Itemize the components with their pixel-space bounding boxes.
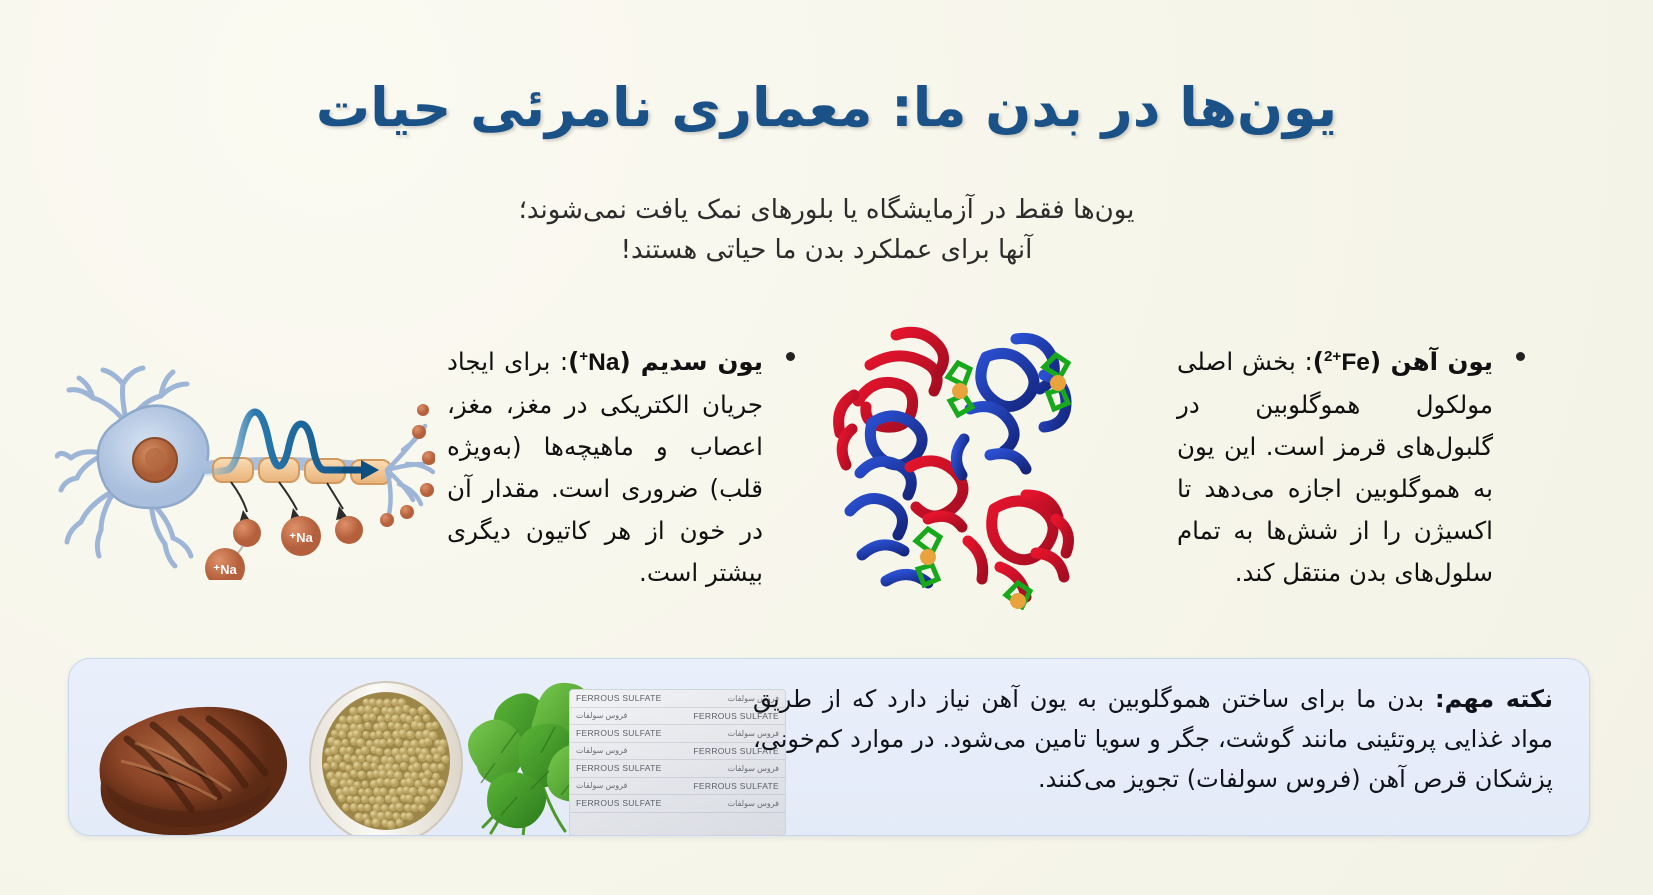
soybean bbox=[400, 762, 408, 770]
page-subtitle: یون‌ها فقط در آزمایشگاه یا بلورهای نمک ی… bbox=[0, 190, 1653, 270]
soybean bbox=[417, 706, 426, 715]
soybean bbox=[361, 780, 368, 787]
sodium-ion-small-2 bbox=[335, 516, 363, 544]
pill-label-fa: فروس سولفات bbox=[728, 799, 779, 808]
iron-bullet-point bbox=[1516, 352, 1525, 361]
soybean bbox=[353, 761, 362, 770]
soybean bbox=[356, 738, 365, 747]
soybean bbox=[349, 707, 358, 716]
soybean bbox=[375, 748, 383, 756]
soybean bbox=[353, 715, 362, 724]
soybean bbox=[411, 804, 419, 812]
soybean bbox=[376, 699, 384, 707]
soybean bbox=[437, 779, 445, 787]
soybean bbox=[433, 754, 441, 762]
soybean bbox=[379, 739, 387, 747]
soybean bbox=[402, 705, 410, 713]
soybean bbox=[369, 698, 377, 706]
soybean bbox=[323, 763, 330, 770]
soybean bbox=[396, 819, 404, 827]
soybean bbox=[425, 754, 433, 762]
soybean bbox=[350, 803, 358, 811]
soybean bbox=[394, 706, 403, 715]
sodium-ion-small bbox=[233, 519, 261, 547]
note-label: نکته مهم: bbox=[1435, 685, 1553, 713]
iron-ion-paragraph: یون آهن (Fe2+): بخش اصلی مولکول هموگلوبی… bbox=[1177, 336, 1493, 594]
soybean bbox=[395, 803, 403, 811]
soybean bbox=[346, 795, 354, 803]
soybean bbox=[387, 738, 394, 745]
soybean bbox=[384, 714, 392, 722]
soybean bbox=[418, 804, 426, 812]
soybean bbox=[405, 812, 413, 820]
soybean bbox=[389, 804, 397, 812]
note-paragraph: نکته مهم: بدن ما برای ساختن هموگلوبین به… bbox=[753, 679, 1553, 799]
neuron-diagram-image: Na⁺ Na⁺ bbox=[55, 350, 435, 580]
subtitle-line-1: یون‌ها فقط در آزمایشگاه یا بلورهای نمک ی… bbox=[0, 190, 1653, 230]
soybean bbox=[350, 770, 358, 778]
soybean bbox=[403, 740, 411, 748]
soybean bbox=[369, 713, 377, 721]
soybean bbox=[338, 794, 346, 802]
soybean bbox=[441, 755, 449, 763]
soybean bbox=[417, 722, 424, 729]
soybean bbox=[358, 755, 366, 763]
soybean bbox=[405, 778, 414, 787]
sodium-ion-label-2: Na⁺ bbox=[213, 562, 237, 577]
pill-label-en: FERROUS SULFATE bbox=[576, 728, 662, 738]
soybean bbox=[406, 730, 415, 739]
soybean bbox=[413, 762, 421, 770]
sodium-term: یون سدیم bbox=[641, 347, 763, 376]
soybean bbox=[422, 762, 431, 771]
soybean bbox=[379, 788, 387, 796]
soybean bbox=[429, 779, 436, 786]
soybean bbox=[432, 722, 439, 729]
soybean bbox=[387, 820, 396, 829]
iron-formula-charge: 2+ bbox=[1324, 348, 1341, 365]
soybean bbox=[346, 747, 353, 754]
soybean bbox=[421, 796, 429, 804]
soybean bbox=[364, 705, 373, 714]
soybean bbox=[383, 699, 391, 707]
soybean bbox=[364, 819, 371, 826]
soybean bbox=[331, 730, 339, 738]
soybean bbox=[375, 796, 384, 805]
soybean bbox=[338, 730, 346, 738]
soybean bbox=[347, 779, 355, 787]
soybean bbox=[423, 714, 431, 722]
iron-rich-foods-images: FERROUS SULFATEفروس سولفاتفروس سولفاتFER… bbox=[69, 659, 789, 835]
soybean bbox=[424, 738, 432, 746]
soybean bbox=[384, 748, 392, 756]
pill-label-fa: فروس سولفات bbox=[576, 781, 627, 790]
soybean bbox=[390, 778, 399, 787]
soybean bbox=[392, 764, 400, 772]
soybean bbox=[372, 818, 381, 827]
subtitle-line-2: آنها برای عملکرد بدن ما حیاتی هستند! bbox=[0, 230, 1653, 270]
soybean bbox=[381, 804, 389, 812]
soybean bbox=[357, 771, 366, 780]
sodium-ion-particles: Na⁺ Na⁺ bbox=[205, 516, 363, 580]
sodium-ion-label-1: Na⁺ bbox=[289, 530, 313, 545]
iron-term: یون آهن bbox=[1391, 347, 1493, 376]
important-note-box: FERROUS SULFATEفروس سولفاتفروس سولفاتFER… bbox=[68, 658, 1590, 836]
soybean bbox=[362, 762, 370, 770]
soybean bbox=[376, 778, 384, 786]
soybean bbox=[386, 770, 394, 778]
note-body: بدن ما برای ساختن هموگلوبین به یون آهن ن… bbox=[753, 685, 1553, 793]
pill-label-fa: فروس سولفات bbox=[576, 711, 627, 720]
soybean bbox=[418, 753, 426, 761]
hemoglobin-molecule-image bbox=[800, 305, 1100, 610]
soybean bbox=[375, 730, 383, 738]
soybean bbox=[342, 803, 350, 811]
sodium-ion-paragraph: یون سدیم (Na+): برای ایجاد جریان الکتریک… bbox=[447, 336, 763, 594]
iron-body: : بخش اصلی مولکول هموگلوبین در گلبول‌های… bbox=[1177, 347, 1493, 587]
iron-formula-symbol: Fe bbox=[1341, 349, 1370, 376]
soybean bbox=[342, 772, 350, 780]
sodium-bullet-point bbox=[786, 352, 795, 361]
soybean bbox=[361, 795, 369, 803]
soybean bbox=[342, 739, 349, 746]
soybean bbox=[437, 746, 446, 755]
soybean bbox=[352, 730, 361, 739]
soybean bbox=[402, 754, 410, 762]
soybean bbox=[372, 707, 379, 714]
soybean bbox=[399, 729, 407, 737]
soybean bbox=[409, 708, 417, 716]
soybean bbox=[330, 746, 339, 755]
page-title: یون‌ها در بدن ما: معماری نامرئی حیات bbox=[0, 76, 1653, 139]
soybean bbox=[437, 763, 445, 771]
soybean bbox=[378, 722, 387, 731]
infographic-page: یون‌ها در بدن ما: معماری نامرئی حیات یون… bbox=[0, 0, 1653, 895]
soybean bbox=[358, 788, 365, 795]
pill-label-fa: فروس سولفات bbox=[576, 746, 627, 755]
soybean bbox=[358, 804, 365, 811]
soybean bbox=[333, 754, 342, 763]
grilled-steak-image bbox=[81, 691, 296, 836]
soybean bbox=[361, 746, 370, 755]
soybean bbox=[387, 757, 395, 765]
soybean bbox=[430, 794, 438, 802]
soybean bbox=[330, 762, 337, 769]
sodium-body: : برای ایجاد جریان الکتریکی در مغز، مغز،… bbox=[447, 347, 763, 587]
soybean bbox=[394, 738, 402, 746]
soybean bbox=[343, 754, 351, 762]
soybean bbox=[407, 747, 415, 755]
soybean bbox=[364, 788, 372, 796]
bowl-of-soybeans-image bbox=[309, 681, 464, 836]
soybean bbox=[362, 731, 369, 738]
soybean bbox=[370, 762, 378, 770]
pill-label-en: FERROUS SULFATE bbox=[576, 763, 662, 773]
soybean bbox=[353, 796, 361, 804]
soybean bbox=[422, 778, 430, 786]
soybean bbox=[330, 778, 339, 787]
soybean bbox=[409, 787, 418, 796]
sodium-formula-charge: + bbox=[579, 348, 588, 365]
soybean bbox=[364, 804, 372, 812]
soybean bbox=[424, 770, 432, 778]
soybean bbox=[379, 770, 388, 779]
soybean bbox=[410, 740, 419, 749]
pill-label-en: FERROUS SULFATE bbox=[576, 693, 662, 703]
soybean bbox=[364, 722, 371, 729]
soybean bbox=[349, 786, 358, 795]
soybean bbox=[383, 731, 391, 739]
soybean bbox=[418, 786, 427, 795]
sodium-formula-symbol: Na bbox=[588, 349, 619, 376]
soybean bbox=[405, 794, 413, 802]
pill-label-en: FERROUS SULFATE bbox=[576, 798, 662, 808]
soybean bbox=[385, 811, 393, 819]
soybean bbox=[339, 716, 347, 724]
